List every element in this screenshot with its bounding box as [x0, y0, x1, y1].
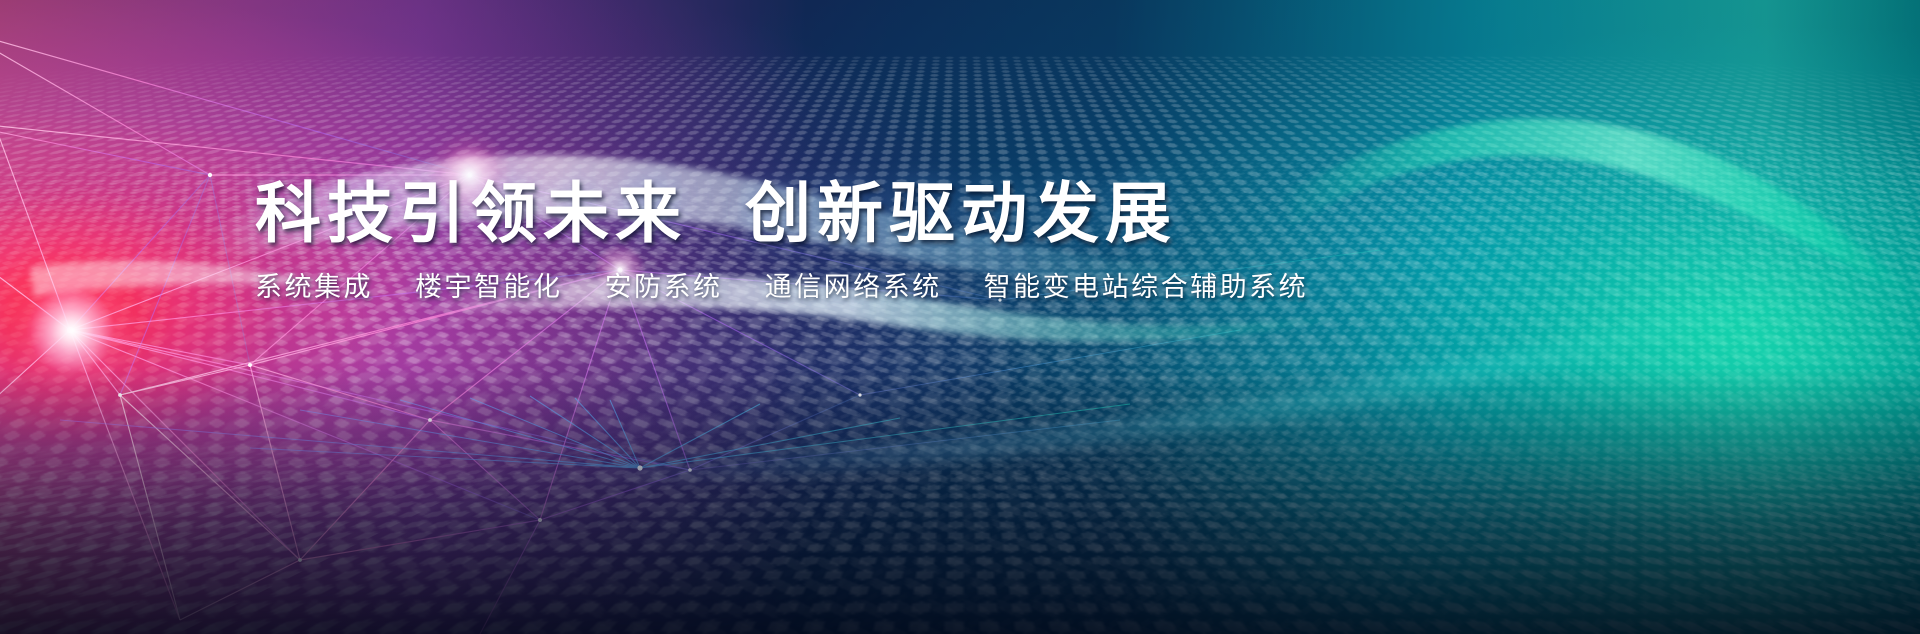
subtitle-item-0: 系统集成: [255, 272, 373, 302]
banner-subtitle: 系统集成 楼宇智能化 安防系统 通信网络系统 智能变电站综合辅助系统: [255, 265, 1308, 304]
headline-part-2: 创新驱动发展: [745, 178, 1177, 249]
headline-part-1: 科技引领未来: [255, 178, 687, 249]
subtitle-item-3: 通信网络系统: [765, 272, 942, 302]
page-title: 科技引领未来 创新驱动发展: [255, 178, 1308, 249]
subtitle-item-4: 智能变电站综合辅助系统: [984, 272, 1309, 302]
subtitle-item-1: 楼宇智能化: [415, 272, 563, 302]
subtitle-item-2: 安防系统: [605, 272, 723, 302]
banner-text-block: 科技引领未来 创新驱动发展 系统集成 楼宇智能化 安防系统 通信网络系统 智能变…: [255, 178, 1308, 304]
hero-banner: 科技引领未来 创新驱动发展 系统集成 楼宇智能化 安防系统 通信网络系统 智能变…: [0, 0, 1920, 634]
light-ribbon-swoosh: [0, 0, 1920, 634]
